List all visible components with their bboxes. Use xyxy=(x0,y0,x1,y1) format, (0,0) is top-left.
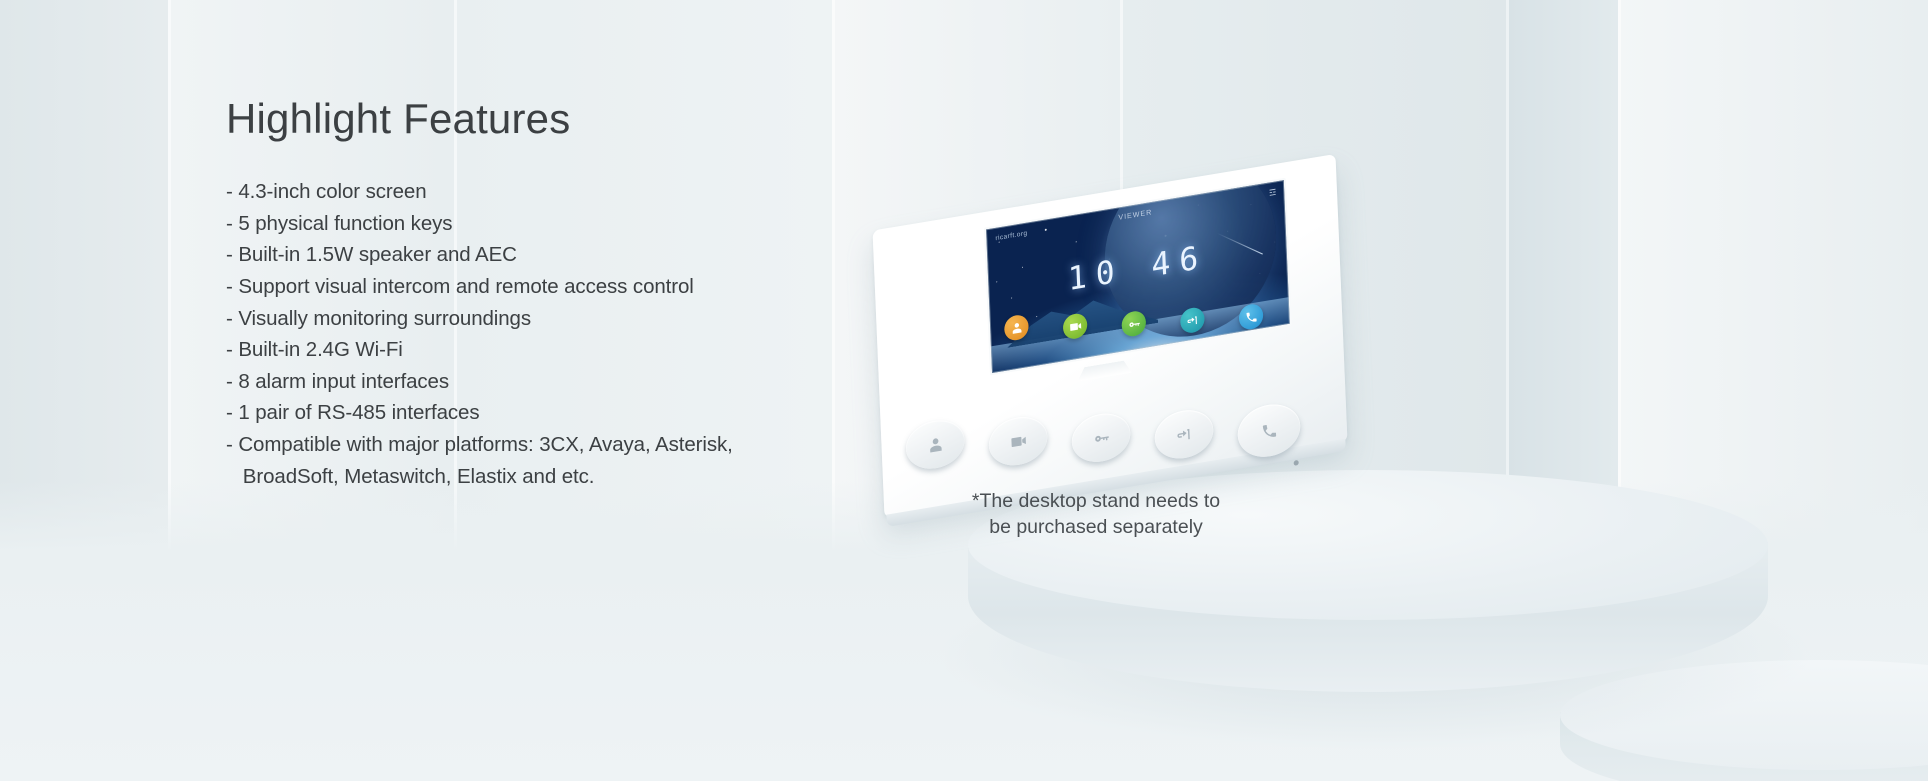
screen-menu-icon[interactable]: ☲ xyxy=(1269,188,1277,198)
disclaimer-line-1: *The desktop stand needs to xyxy=(950,488,1242,514)
feature-item: - Support visual intercom and remote acc… xyxy=(226,271,986,303)
intercom-key[interactable] xyxy=(905,416,965,473)
stand-disclaimer: *The desktop stand needs to be purchased… xyxy=(950,488,1242,540)
feature-list: - 4.3-inch color screen - 5 physical fun… xyxy=(226,176,986,492)
feature-item: - Compatible with major platforms: 3CX, … xyxy=(226,429,986,461)
unlock-key-icon[interactable] xyxy=(1121,309,1146,338)
feature-item: - 1 pair of RS-485 interfaces xyxy=(226,397,986,429)
feature-item: - Built-in 2.4G Wi-Fi xyxy=(226,334,986,366)
page-title: Highlight Features xyxy=(226,96,986,142)
monitor-icon[interactable] xyxy=(1063,312,1088,341)
feature-item: - 8 alarm input interfaces xyxy=(226,366,986,398)
return-key[interactable] xyxy=(1154,406,1214,463)
return-icon[interactable] xyxy=(1180,306,1205,335)
feature-copy-block: Highlight Features - 4.3-inch color scre… xyxy=(226,96,986,492)
feature-item: BroadSoft, Metaswitch, Elastix and etc. xyxy=(226,461,986,493)
speaker-notch xyxy=(1077,359,1132,381)
monitor-key[interactable] xyxy=(988,413,1048,470)
unlock-key[interactable] xyxy=(1071,409,1131,466)
feature-item: - Visually monitoring surroundings xyxy=(226,303,986,335)
feature-item: - 4.3-inch color screen xyxy=(226,176,986,208)
feature-item: - Built-in 1.5W speaker and AEC xyxy=(226,239,986,271)
disclaimer-line-2: be purchased separately xyxy=(950,514,1242,540)
